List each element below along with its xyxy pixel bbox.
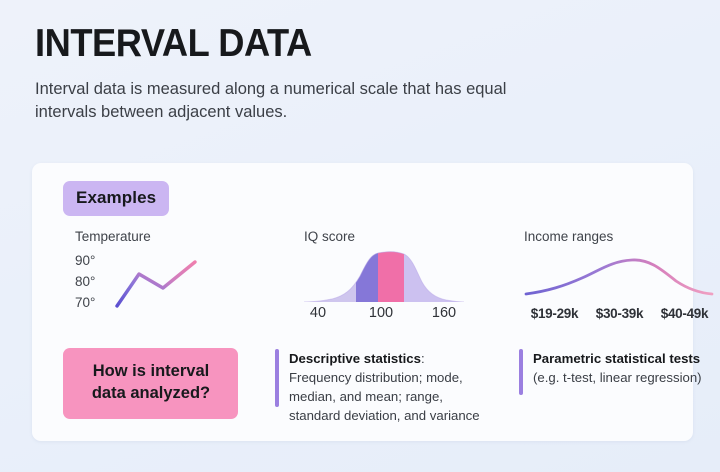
parametric-lead: Parametric statistical tests — [533, 351, 700, 366]
income-line-chart — [524, 250, 714, 302]
example-income-ranges: Income ranges $19-29k $30-39k $40-49k — [524, 229, 720, 321]
temperature-tick: 70° — [75, 292, 109, 313]
header: INTERVAL DATA Interval data is measured … — [35, 24, 675, 123]
income-tick: $40-49k — [652, 306, 717, 321]
income-tick: $19-29k — [522, 306, 587, 321]
descriptive-text: Descriptive statistics: Frequency distri… — [289, 349, 480, 425]
page-title: INTERVAL DATA — [35, 24, 630, 65]
accent-bar — [275, 349, 279, 407]
descriptive-lead: Descriptive statistics — [289, 351, 421, 366]
income-x-axis: $19-29k $30-39k $40-49k — [522, 306, 717, 321]
temperature-tick: 90° — [75, 250, 109, 271]
parametric-rest: (e.g. t-test, linear regression) — [533, 370, 702, 385]
iq-label: IQ score — [304, 229, 484, 244]
analysis-parametric: Parametric statistical tests (e.g. t-tes… — [519, 349, 704, 395]
temperature-y-axis: 90° 80° 70° — [75, 250, 109, 313]
example-temperature: Temperature 90° 80° 70° — [75, 229, 250, 312]
parametric-text: Parametric statistical tests (e.g. t-tes… — [533, 349, 704, 395]
iq-x-axis: 40 100 160 — [304, 305, 464, 325]
iq-tick: 40 — [310, 305, 326, 321]
temperature-line-chart — [113, 250, 218, 312]
income-tick: $30-39k — [587, 306, 652, 321]
examples-badge: Examples — [63, 181, 169, 216]
iq-tick: 100 — [369, 305, 393, 321]
temperature-tick: 80° — [75, 271, 109, 292]
content-card: Examples Temperature 90° 80° 70° — [32, 163, 693, 441]
analysis-descriptive: Descriptive statistics: Frequency distri… — [275, 349, 480, 425]
income-label: Income ranges — [524, 229, 720, 244]
question-badge: How is interval data analyzed? — [63, 348, 238, 419]
iq-tick: 160 — [432, 305, 456, 321]
temperature-chart-area: 90° 80° 70° — [75, 250, 250, 312]
accent-bar — [519, 349, 523, 395]
page-subtitle: Interval data is measured along a numeri… — [35, 78, 555, 124]
example-iq-score: IQ score 40 100 160 — [304, 229, 484, 325]
infographic-page: INTERVAL DATA Interval data is measured … — [0, 0, 720, 472]
temperature-label: Temperature — [75, 229, 250, 244]
iq-distribution-chart — [304, 250, 464, 302]
